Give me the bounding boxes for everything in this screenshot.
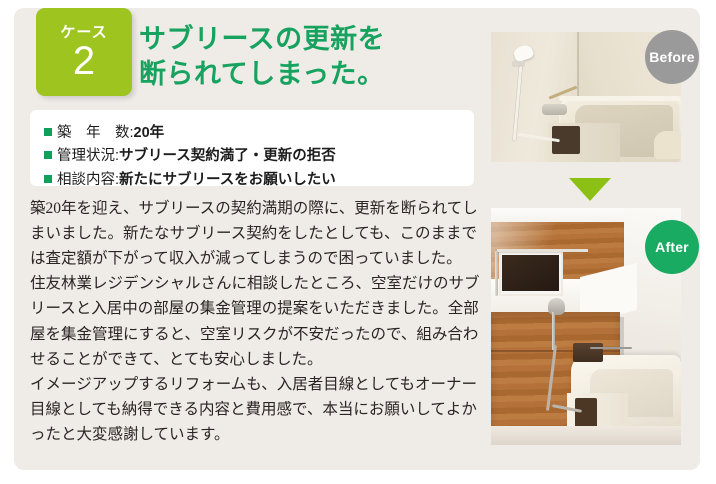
property-spec-box: 築 年 数: 20年 管理状況: サブリース契約満了・更新の拒否 相談内容: 新… <box>30 110 474 186</box>
status-badge-before: Before <box>645 30 699 84</box>
status-badge-after: After <box>645 220 699 274</box>
testimonial-paragraph: 住友林業レジデンシャルさんに相談したところ、空室だけのサブリースと入居中の部屋の… <box>30 271 482 371</box>
case-badge-kana: ケース <box>60 25 107 40</box>
bullet-square-icon <box>44 175 52 183</box>
case-study-card: ケース 2 サブリースの更新を 断られてしまった。 築 年 数: 20年 管理状… <box>0 0 716 484</box>
list-item: 築 年 数: 20年 <box>44 122 474 145</box>
before-bath-bucket <box>654 131 681 160</box>
page-title: サブリースの更新を 断られてしまった。 <box>139 22 469 92</box>
bullet-square-icon <box>44 128 52 136</box>
spec-value: サブリース契約満了・更新の拒否 <box>119 145 336 168</box>
bullet-square-icon <box>44 151 52 159</box>
down-arrow-icon <box>569 178 611 201</box>
page-title-line1: サブリースの更新を <box>139 24 385 54</box>
list-item: 管理状況: サブリース契約満了・更新の拒否 <box>44 145 474 168</box>
before-faucet-body <box>542 104 567 116</box>
testimonial-paragraph: イメージアップするリフォームも、入居者目線としてもオーナー目線としても納得できる… <box>30 372 482 447</box>
after-shelf <box>497 249 588 252</box>
spec-label: 築 年 数: <box>57 122 134 145</box>
case-badge-number: 2 <box>73 42 95 80</box>
after-faucet-spout <box>590 347 632 350</box>
spec-label: 相談内容: <box>57 169 119 192</box>
case-number-badge: ケース 2 <box>36 8 132 96</box>
after-shower-head-icon <box>548 298 565 315</box>
testimonial-paragraph: 築20年を迎え、サブリースの契約満期の際に、更新を断られてしまいました。新たなサ… <box>30 196 482 271</box>
testimonial-body: 築20年を迎え、サブリースの契約満期の際に、更新を断られてしまいました。新たなサ… <box>30 196 482 447</box>
spec-value: 20年 <box>134 122 165 145</box>
property-spec-list: 築 年 数: 20年 管理状況: サブリース契約満了・更新の拒否 相談内容: 新… <box>30 116 474 192</box>
page-title-line2: 断られてしまった。 <box>139 57 469 92</box>
spec-label: 管理状況: <box>57 145 119 168</box>
spec-value: 新たにサブリースをお願いしたい <box>119 169 336 192</box>
before-bathtub-rim <box>559 96 681 101</box>
after-grab-rail <box>495 251 498 296</box>
after-faucet-body <box>573 343 603 362</box>
after-mirror-glass <box>502 255 559 291</box>
list-item: 相談内容: 新たにサブリースをお願いしたい <box>44 169 474 192</box>
after-floor <box>491 426 681 445</box>
